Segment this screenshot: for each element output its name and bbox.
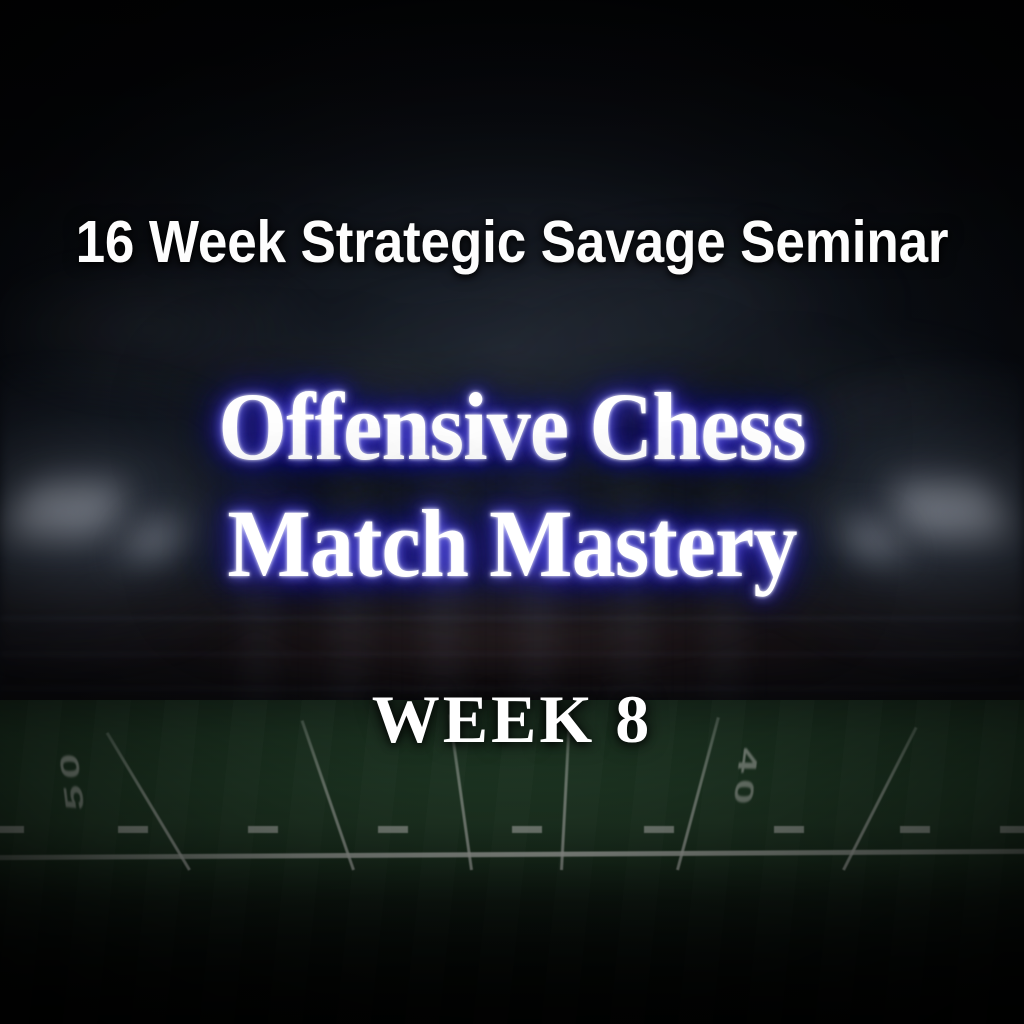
headline-line-1: Offensive Chess [41,368,983,485]
week-label: WEEK 8 [0,685,1024,753]
promo-card: 50 40 16 Week Strategic Savage Seminar O… [0,0,1024,1024]
seminar-eyebrow: 16 Week Strategic Savage Seminar [51,212,973,273]
headline-line-2: Match Mastery [41,485,983,602]
poster-headline: Offensive Chess Match Mastery [41,368,983,602]
poster-content: 16 Week Strategic Savage Seminar Offensi… [0,0,1024,1024]
